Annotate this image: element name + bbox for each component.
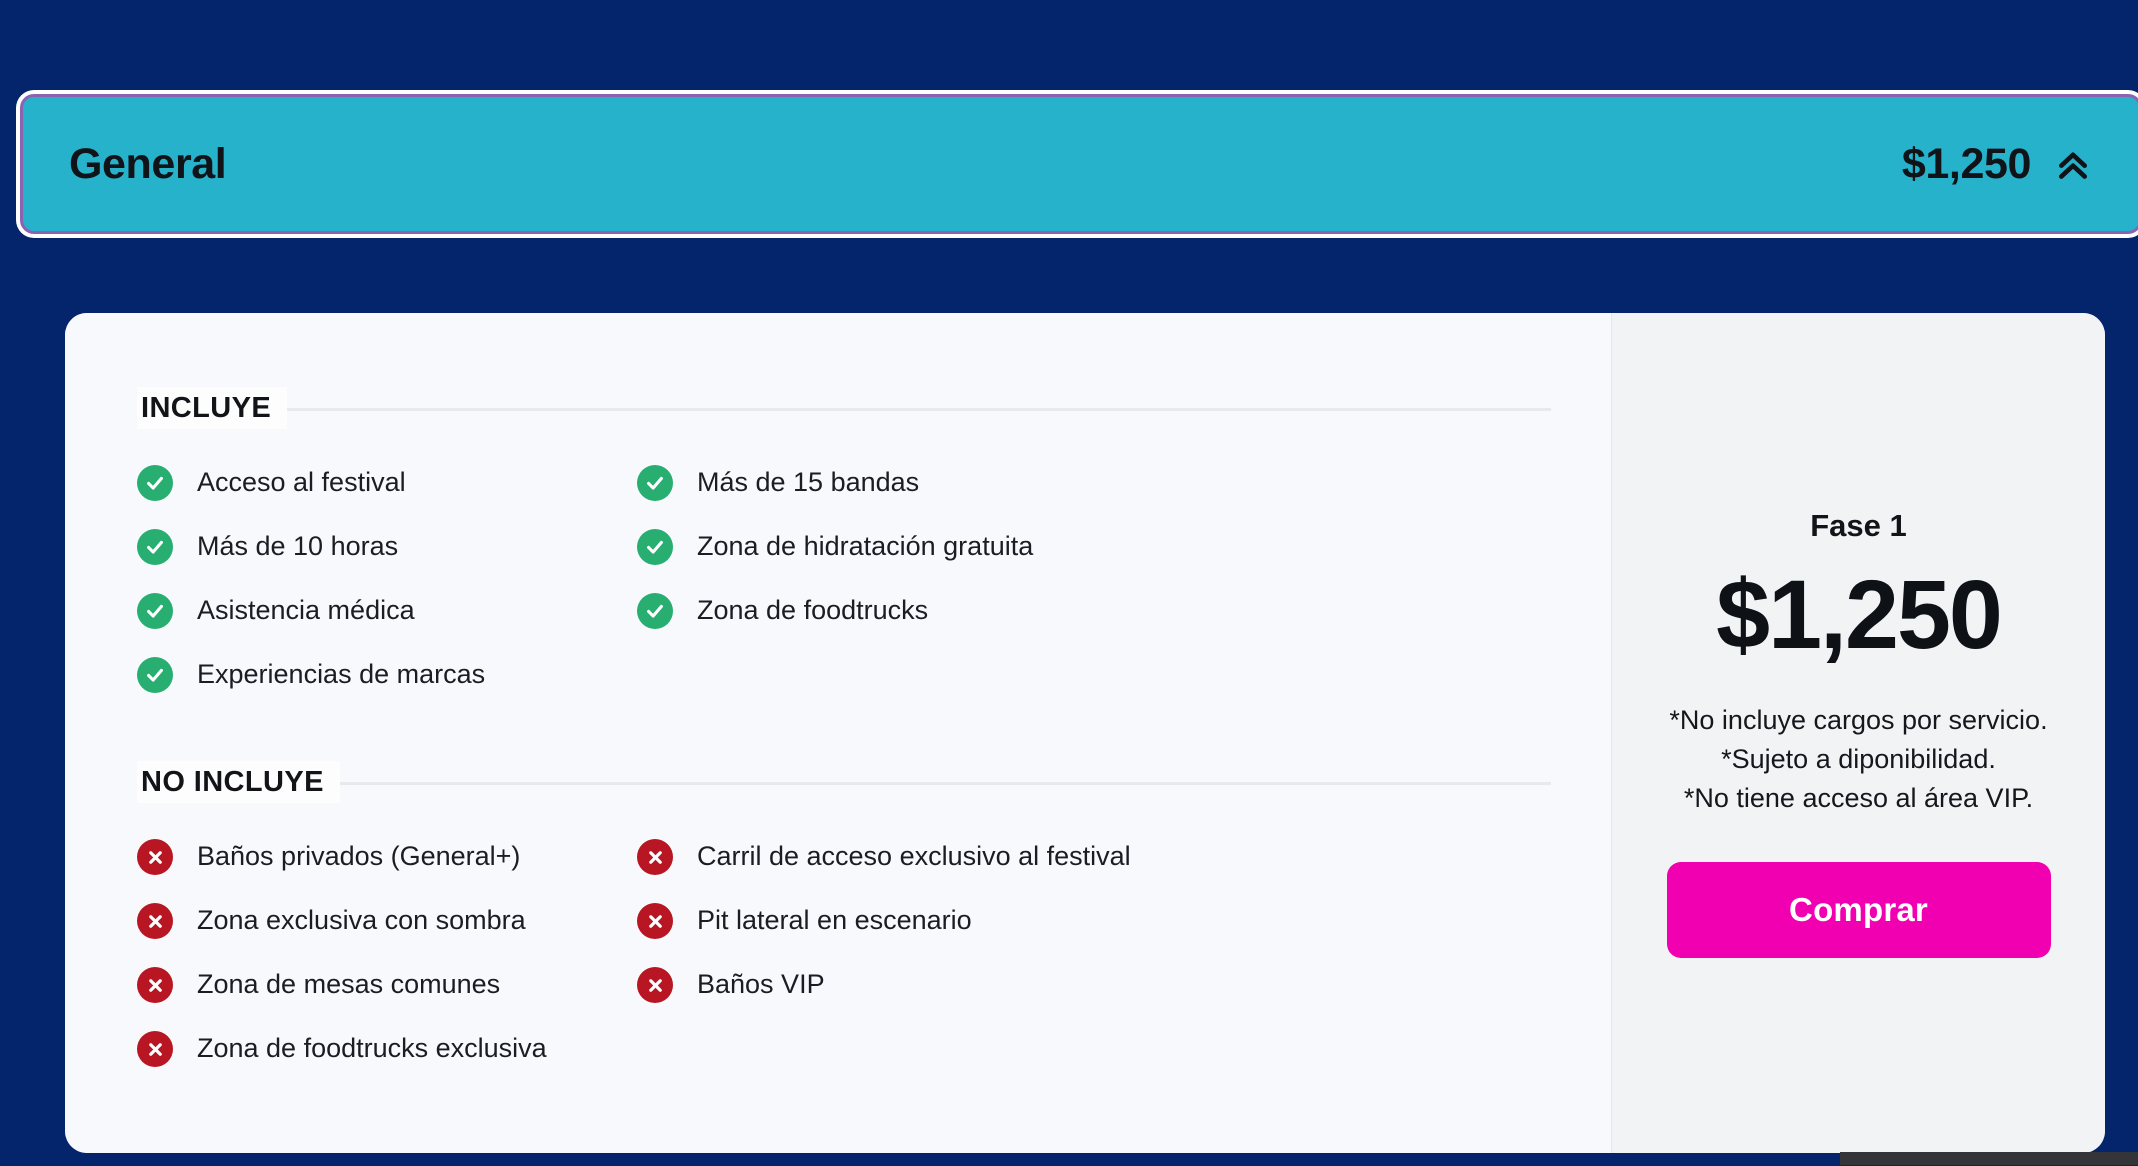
x-circle-icon [637, 839, 673, 875]
list-item: Zona de foodtrucks [637, 579, 1551, 643]
list-item-label: Más de 15 bandas [697, 467, 919, 498]
list-item-label: Zona de mesas comunes [197, 969, 500, 1000]
purchase-note: *No tiene acceso al área VIP. [1669, 779, 2047, 818]
phase-label: Fase 1 [1810, 508, 1907, 544]
list-item-label: Más de 10 horas [197, 531, 398, 562]
list-item-label: Zona de hidratación gratuita [697, 531, 1033, 562]
check-circle-icon [137, 529, 173, 565]
list-item-label: Experiencias de marcas [197, 659, 485, 690]
list-item: Más de 15 bandas [637, 451, 1551, 515]
section-spacer [137, 707, 1551, 761]
list-item: Zona de foodtrucks exclusiva [137, 1017, 637, 1081]
purchase-note: *Sujeto a diponibilidad. [1669, 740, 2047, 779]
buy-button[interactable]: Comprar [1667, 862, 2051, 958]
panel-price: $1,250 [1716, 566, 2001, 663]
list-item: Asistencia médica [137, 579, 637, 643]
list-item: Zona de mesas comunes [137, 953, 637, 1017]
excludes-heading-label: NO INCLUYE [137, 761, 340, 803]
tier-detail-card: INCLUYE Acceso al festival Más de 15 ban… [65, 313, 2105, 1153]
includes-list: Acceso al festival Más de 15 bandas Más … [137, 451, 1551, 707]
check-circle-icon [137, 593, 173, 629]
excludes-divider-rule [137, 782, 1551, 785]
x-circle-icon [637, 903, 673, 939]
features-column: INCLUYE Acceso al festival Más de 15 ban… [65, 313, 1611, 1153]
check-circle-icon [637, 465, 673, 501]
list-item: Zona de hidratación gratuita [637, 515, 1551, 579]
horizontal-scrollbar-thumb[interactable] [1840, 1152, 2138, 1165]
list-item: Zona exclusiva con sombra [137, 889, 637, 953]
purchase-note: *No incluye cargos por servicio. [1669, 701, 2047, 740]
list-item-label: Zona de foodtrucks exclusiva [197, 1033, 547, 1064]
list-item: Experiencias de marcas [137, 643, 637, 707]
tier-header-outline: General $1,250 [16, 90, 2138, 238]
list-item: Acceso al festival [137, 451, 637, 515]
check-circle-icon [137, 465, 173, 501]
horizontal-scrollbar[interactable] [0, 1150, 2138, 1166]
list-item-label: Baños VIP [697, 969, 825, 1000]
includes-heading: INCLUYE [137, 387, 1551, 429]
list-item: Carril de acceso exclusivo al festival [637, 825, 1551, 889]
list-item-empty [637, 643, 1551, 707]
list-item-label: Baños privados (General+) [197, 841, 520, 872]
x-circle-icon [137, 903, 173, 939]
purchase-panel: Fase 1 $1,250 *No incluye cargos por ser… [1611, 313, 2105, 1153]
includes-heading-label: INCLUYE [137, 387, 287, 429]
x-circle-icon [137, 839, 173, 875]
x-circle-icon [637, 967, 673, 1003]
list-item-label: Asistencia médica [197, 595, 415, 626]
tier-header-right: $1,250 [1902, 143, 2093, 186]
page-root: General $1,250 INCLUYE [0, 0, 2138, 1166]
check-circle-icon [137, 657, 173, 693]
list-item-label: Pit lateral en escenario [697, 905, 972, 936]
list-item: Pit lateral en escenario [637, 889, 1551, 953]
tier-title: General [69, 143, 226, 186]
double-chevron-up-icon[interactable] [2053, 144, 2093, 184]
x-circle-icon [137, 1031, 173, 1067]
tier-header-general[interactable]: General $1,250 [20, 94, 2138, 234]
list-item-label: Carril de acceso exclusivo al festival [697, 841, 1131, 872]
excludes-heading: NO INCLUYE [137, 761, 1551, 803]
check-circle-icon [637, 529, 673, 565]
excludes-list: Baños privados (General+) Carril de acce… [137, 825, 1551, 1081]
tier-header-price: $1,250 [1902, 143, 2031, 186]
list-item-label: Zona de foodtrucks [697, 595, 928, 626]
includes-divider-rule [137, 408, 1551, 411]
list-item-empty [637, 1017, 1551, 1081]
list-item: Baños privados (General+) [137, 825, 637, 889]
list-item: Baños VIP [637, 953, 1551, 1017]
x-circle-icon [137, 967, 173, 1003]
list-item-label: Acceso al festival [197, 467, 406, 498]
list-item: Más de 10 horas [137, 515, 637, 579]
purchase-notes: *No incluye cargos por servicio. *Sujeto… [1669, 701, 2047, 818]
list-item-label: Zona exclusiva con sombra [197, 905, 526, 936]
check-circle-icon [637, 593, 673, 629]
